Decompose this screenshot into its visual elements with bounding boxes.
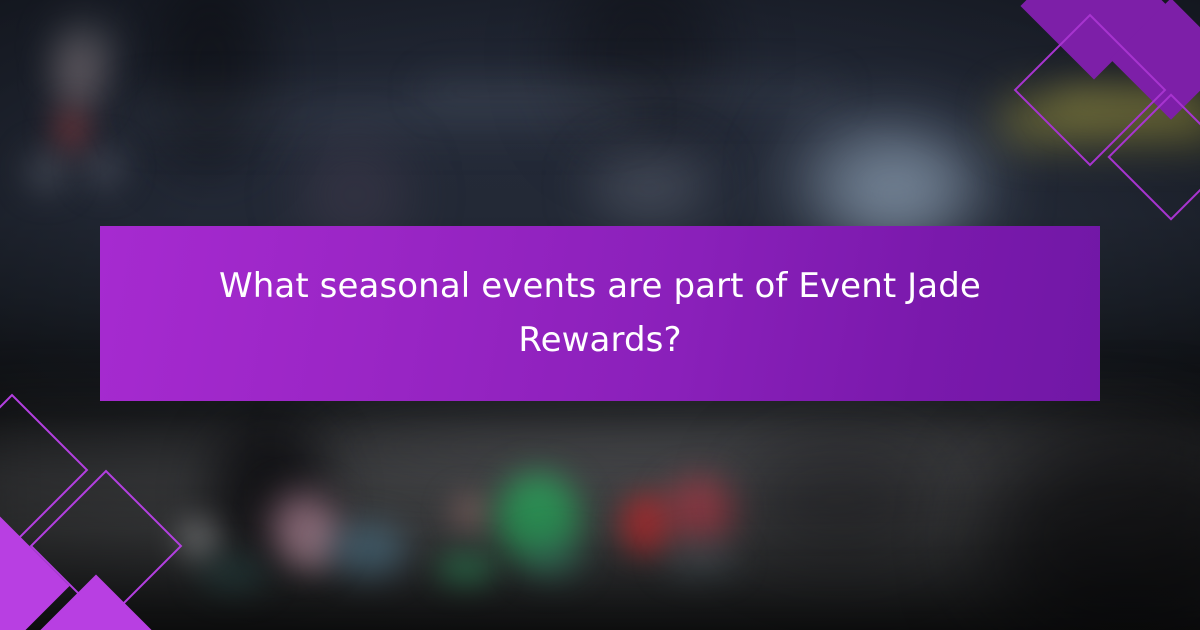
background-blob-figure-accent	[54, 108, 88, 152]
background-blob-dark-right	[740, 440, 940, 560]
background-blob-red-base	[662, 542, 738, 576]
background-blob-road	[0, 430, 1200, 560]
background-blob-figure-leg-left	[26, 150, 68, 192]
background-blob-green-teal	[520, 540, 584, 580]
background-blob-yellow-glow-core	[1052, 84, 1200, 118]
background-blob-mist-center	[590, 150, 710, 224]
background-blob-figure-leg-right	[84, 146, 124, 188]
background-blob-haze-band	[120, 96, 640, 130]
headline-banner: What seasonal events are part of Event J…	[100, 226, 1100, 401]
background-blob-white-left	[176, 518, 220, 562]
background-blob-blue-glow	[790, 120, 990, 240]
background-blob-teal-left	[198, 556, 268, 592]
background-blob-dark-column	[150, 0, 270, 170]
background-blob-pink-character	[268, 492, 338, 562]
background-blob-green-lower	[436, 552, 496, 586]
background-blob-dark-column-2	[560, 0, 720, 150]
background-blob-figure-head	[52, 18, 116, 76]
background-blob-cyan-character	[330, 524, 406, 578]
headline-text: What seasonal events are part of Event J…	[160, 260, 1040, 367]
background-blob-pink-highlight	[286, 520, 338, 572]
background-blob-haze-band-2	[420, 78, 840, 104]
background-blob-red-character-2	[664, 478, 736, 544]
share-card: What seasonal events are part of Event J…	[0, 0, 1200, 630]
background-blob-green-character	[496, 474, 580, 562]
background-blob-yellow-glow	[1000, 96, 1200, 142]
background-blob-dark-wedge	[210, 420, 330, 570]
background-blob-brown-character	[448, 492, 492, 534]
background-blob-dark-bottom-right	[980, 430, 1200, 630]
background-blob-road-highlight	[300, 412, 1200, 482]
background-blob-figure-torso	[52, 42, 104, 114]
background-blob-red-character	[620, 494, 672, 556]
